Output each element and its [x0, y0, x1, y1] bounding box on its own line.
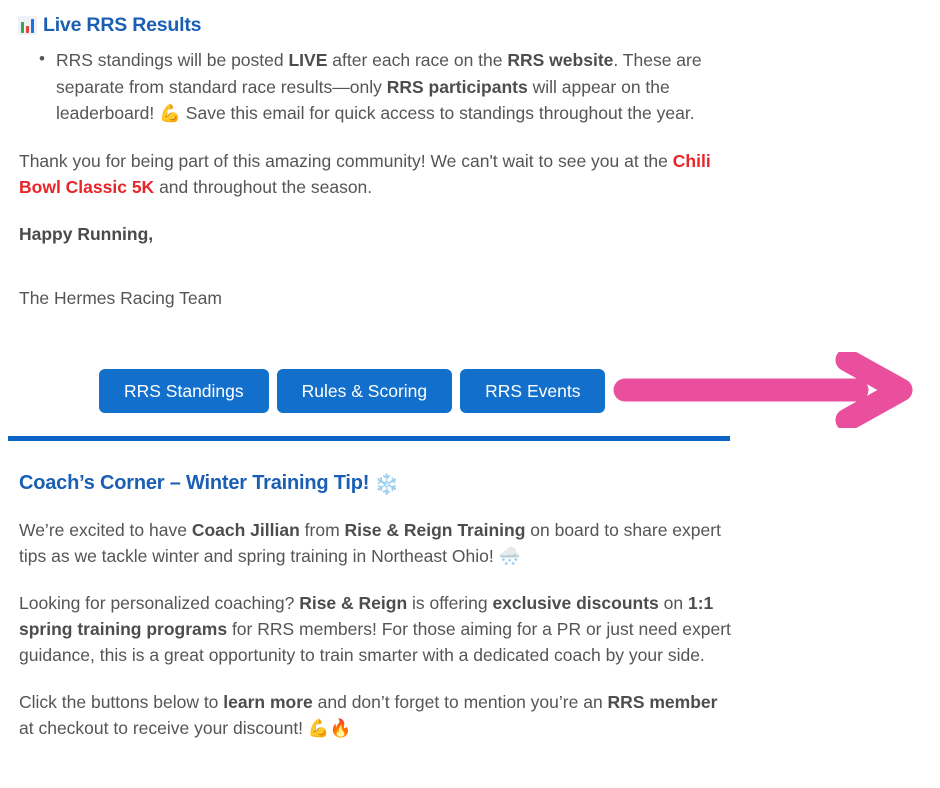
- rrs-standings-button[interactable]: RRS Standings: [99, 369, 269, 413]
- email-body: Live RRS Results RRS standings will be p…: [0, 0, 940, 788]
- rrs-events-button[interactable]: RRS Events: [460, 369, 605, 413]
- live-rrs-results-heading: Live RRS Results: [0, 0, 940, 37]
- cta-button-row: RRS Standings Rules & Scoring RRS Events: [99, 369, 605, 413]
- pink-arrow-annotation: [595, 352, 915, 428]
- thank-you-paragraph: Thank you for being part of this amazing…: [0, 148, 731, 200]
- signoff-text: Happy Running,: [0, 221, 731, 247]
- snowflake-icon: ❄️: [374, 474, 399, 494]
- coach-paragraph-2: Looking for personalized coaching? Rise …: [0, 590, 731, 668]
- team-name-text: The Hermes Racing Team: [0, 285, 731, 311]
- coach-corner-section: Coach’s Corner – Winter Training Tip! ❄️…: [0, 472, 940, 741]
- section-divider: [8, 436, 730, 441]
- coach-corner-heading: Coach’s Corner – Winter Training Tip! ❄️: [0, 472, 940, 495]
- rules-scoring-button[interactable]: Rules & Scoring: [277, 369, 452, 413]
- coach-paragraph-1: We’re excited to have Coach Jillian from…: [0, 517, 731, 569]
- live-rrs-results-list: RRS standings will be posted LIVE after …: [0, 47, 940, 127]
- coach-paragraph-3: Click the buttons below to learn more an…: [0, 689, 731, 741]
- bar-chart-icon: [18, 16, 37, 35]
- live-rrs-results-heading-text: Live RRS Results: [43, 14, 201, 37]
- coach-corner-heading-text: Coach’s Corner – Winter Training Tip!: [19, 472, 369, 495]
- list-item: RRS standings will be posted LIVE after …: [56, 47, 704, 127]
- arrow-shape: [625, 360, 901, 420]
